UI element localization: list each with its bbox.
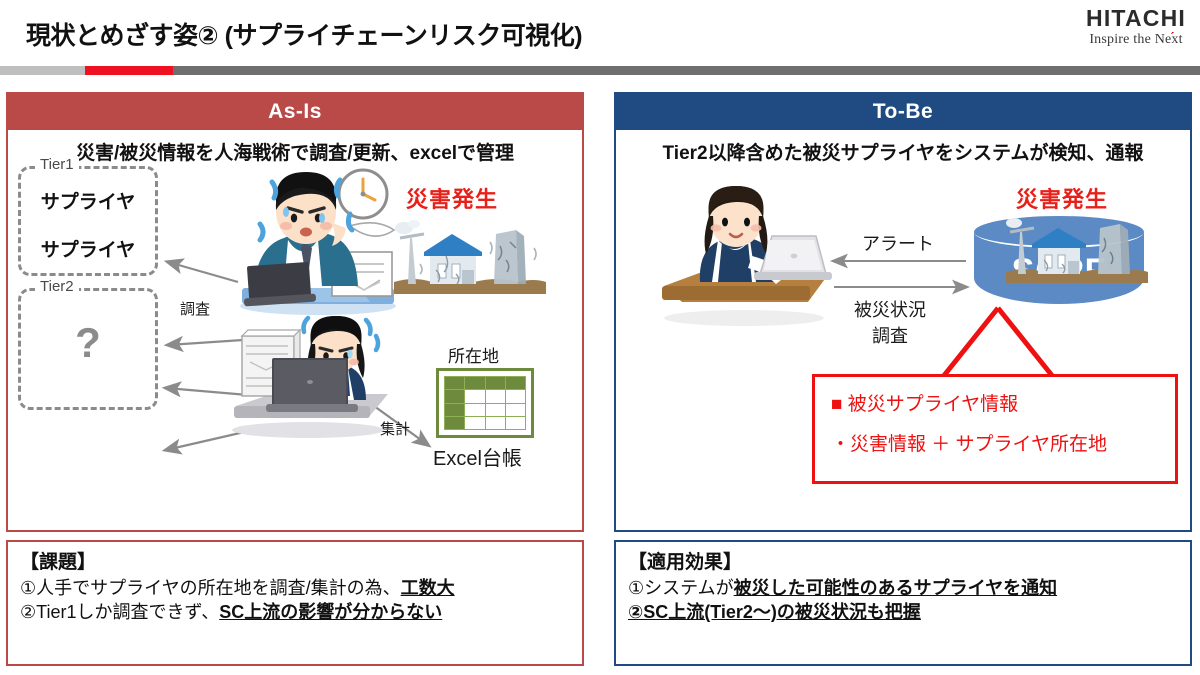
issues-note-line-1-prefix: ①人手でサプライヤの所在地を調査/集計の為、 — [20, 578, 401, 598]
effects-note-box: 【適用効果】 ①システムが被災した可能性のあるサプライヤを通知 ②SC上流(Ti… — [614, 540, 1192, 666]
callout-line-2: ・災害情報 ＋ サプライヤ所在地 — [831, 431, 1159, 459]
to-be-header: To-Be — [616, 94, 1190, 130]
to-be-body: Tier2以降含めた被災サプライヤをシステムが検知、通報 — [616, 130, 1190, 530]
issues-note-box: 【課題】 ①人手でサプライヤの所在地を調査/集計の為、工数大 ②Tier1しか調… — [6, 540, 584, 666]
accent-segment-red — [85, 66, 173, 75]
effects-note-line-1-prefix: ①システムが — [628, 578, 734, 598]
effects-note-line-1: ①システムが被災した可能性のあるサプライヤを通知 — [628, 576, 1178, 601]
tier2-box: Tier2 ? — [18, 288, 158, 410]
tier2-label: Tier2 — [35, 279, 79, 294]
effects-note-title: 【適用効果】 — [628, 550, 1178, 576]
excel-icon — [436, 368, 534, 438]
tier1-supplier-1: サプライヤ — [21, 187, 155, 214]
logo-red-tick-icon: ´ — [1170, 29, 1175, 45]
to-be-panel: To-Be Tier2以降含めた被災サプライヤをシステムが検知、通報 — [614, 92, 1192, 532]
page-title: 現状とめざす姿② (サプライチェーンリスク可視化) — [26, 16, 582, 52]
logo-tagline-text: Inspire the Next — [1089, 32, 1182, 47]
logo-tagline: Inspire the Next ´ — [1089, 32, 1182, 49]
survey-arrow-label-line1: 被災状況 — [854, 296, 926, 322]
tier1-supplier-2: サプライヤ — [21, 235, 155, 262]
issues-note-line-1-emphasis: 工数大 — [401, 578, 455, 598]
as-is-body: 災害/被災情報を人海戦術で調査/更新、excelで管理 Tier1 サプライヤ … — [8, 130, 582, 530]
as-is-panel: As-Is 災害/被災情報を人海戦術で調査/更新、excelで管理 Tier1 — [6, 92, 584, 532]
as-is-header: As-Is — [8, 94, 582, 130]
issues-note-line-2-prefix: ②Tier1しか調査できず、 — [20, 602, 219, 622]
to-be-subtitle: Tier2以降含めた被災サプライヤをシステムが検知、通報 — [616, 138, 1190, 165]
slide-root: 現状とめざす姿② (サプライチェーンリスク可視化) HITACHI Inspir… — [0, 0, 1200, 675]
issues-note-line-2-emphasis: SC上流の影響が分からない — [219, 602, 442, 622]
effects-note-line-2-emphasis: ②SC上流(Tier2〜)の被災状況も把握 — [628, 602, 921, 622]
callout-pointer — [936, 306, 1056, 380]
effects-note-line-1-emphasis: 被災した可能性のあるサプライヤを通知 — [734, 578, 1057, 598]
tier1-box: Tier1 サプライヤ サプライヤ — [18, 166, 158, 276]
stressed-woman-illustration — [216, 302, 396, 442]
tier1-label: Tier1 — [35, 157, 79, 172]
hitachi-logo: HITACHI Inspire the Next ´ — [1086, 6, 1186, 49]
survey-arrow-label: 調査 — [180, 298, 210, 319]
happy-woman-illustration — [648, 178, 838, 328]
accent-segment-gray-dark — [173, 66, 1200, 75]
callout-line-1: ■ 被災サプライヤ情報 — [831, 391, 1159, 419]
alert-arrow-label: アラート — [862, 230, 934, 256]
issues-note-line-1: ①人手でサプライヤの所在地を調査/集計の為、工数大 — [20, 576, 570, 601]
accent-segment-gray-light — [0, 66, 85, 75]
survey-arrow-label-line2: 調査 — [872, 322, 908, 348]
excel-caption-bottom: Excel台帳 — [433, 442, 522, 471]
excel-grid — [444, 376, 526, 430]
to-be-disaster-illustration — [1002, 206, 1152, 288]
logo-wordmark: HITACHI — [1086, 6, 1186, 30]
scpf-info-callout: ■ 被災サプライヤ情報 ・災害情報 ＋ サプライヤ所在地 — [812, 374, 1178, 484]
effects-note-line-2: ②SC上流(Tier2〜)の被災状況も把握 — [628, 600, 1178, 625]
excel-caption-top: 所在地 — [448, 342, 499, 367]
title-accent-bar — [0, 66, 1200, 75]
issues-note-line-2: ②Tier1しか調査できず、SC上流の影響が分からない — [20, 600, 570, 625]
tier2-unknown-mark: ? — [21, 319, 155, 367]
as-is-disaster-illustration — [390, 208, 550, 300]
issues-note-title: 【課題】 — [20, 550, 570, 576]
